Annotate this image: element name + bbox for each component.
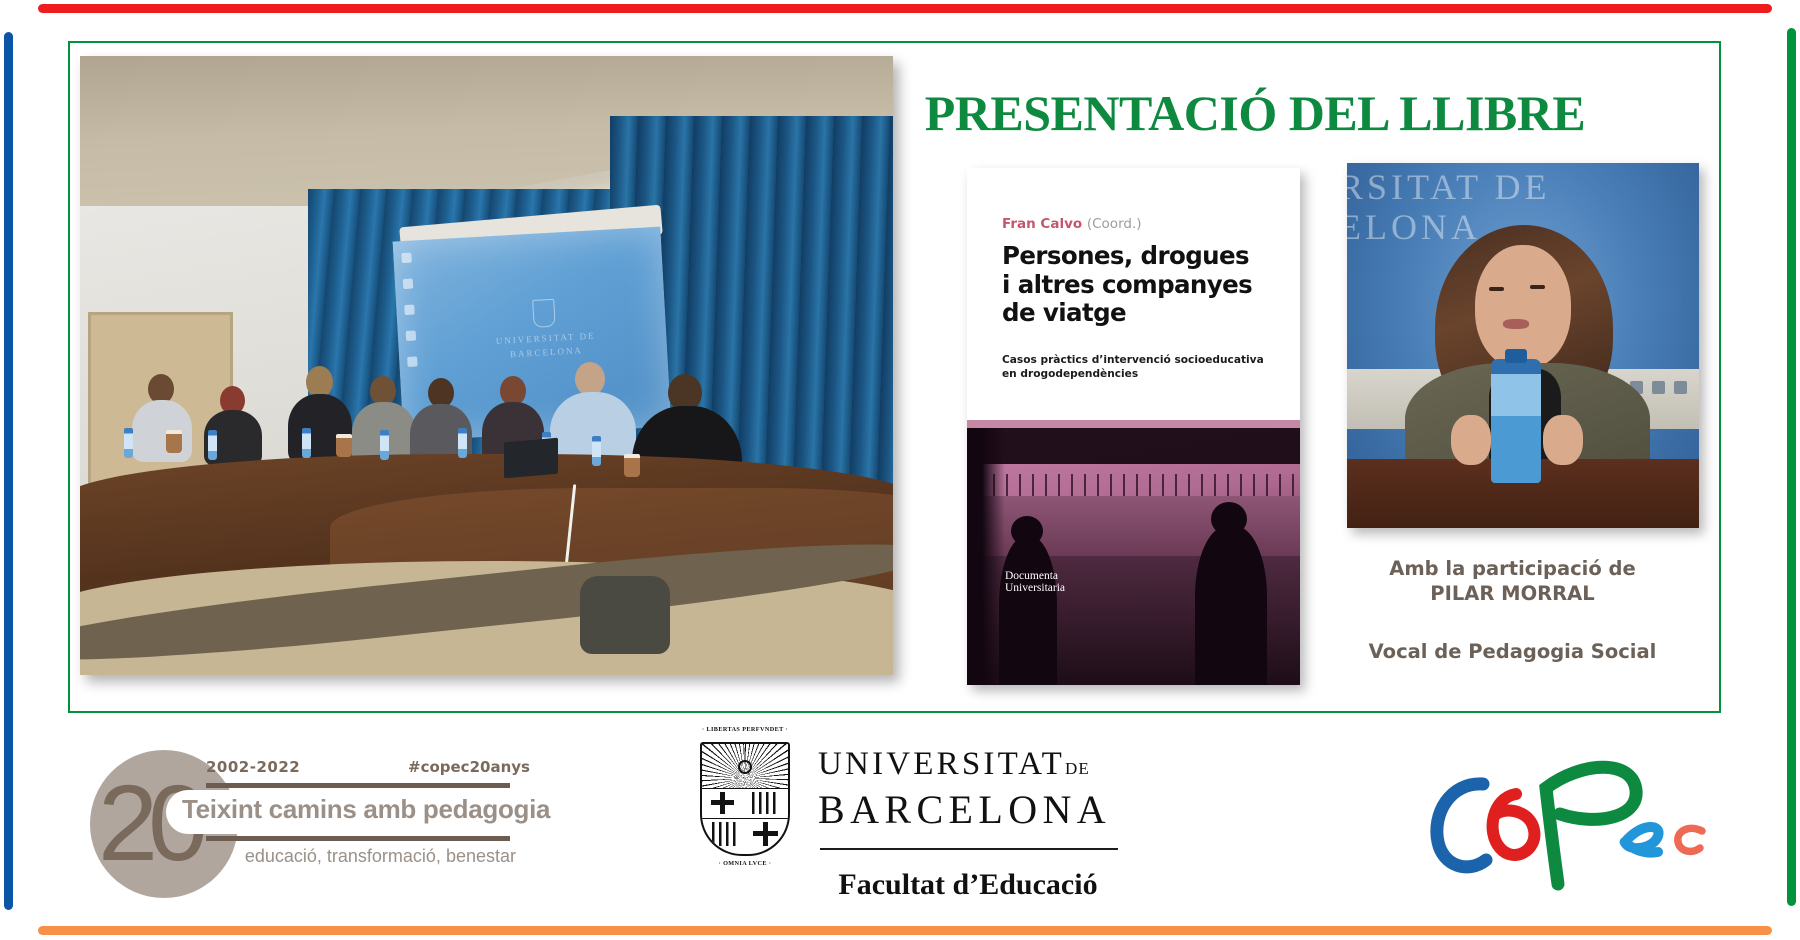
book-subtitle: Casos pràctics d’intervenció socioeducat… bbox=[1002, 353, 1277, 382]
water-bottle bbox=[208, 430, 217, 460]
copec-letter-e-blue bbox=[1625, 827, 1659, 853]
ub-divider bbox=[820, 848, 1118, 850]
copec-logo bbox=[1420, 744, 1720, 894]
pales-q3 bbox=[712, 822, 740, 846]
page-title: PRESENTACIÓ DEL LLIBRE bbox=[905, 84, 1605, 142]
ub-motto-bottom: · OMNIA LVCE · bbox=[700, 860, 790, 867]
universitat-de-barcelona-logo: · LIBERTAS PERFVNDET · · OMNIA LVCE · UN… bbox=[700, 722, 1120, 912]
coffee-cup bbox=[166, 430, 182, 453]
book-subtitle-line2: en drogodependències bbox=[1002, 367, 1277, 381]
panellist-head bbox=[575, 362, 605, 396]
water-bottle bbox=[380, 430, 389, 460]
logo-rule-top bbox=[206, 783, 510, 788]
copec-20-anniversary-logo: 20 2002-2022 #copec20anys Teixint camins… bbox=[90, 736, 510, 906]
laptop bbox=[504, 438, 558, 479]
copec-letter-o-red bbox=[1493, 794, 1535, 855]
water-bottle bbox=[458, 428, 467, 458]
ub-name-line2: BARCELONA bbox=[818, 786, 1111, 833]
logo-slogan: Teixint camins amb pedagogia bbox=[182, 794, 522, 825]
book-title-line2: i altres companyes bbox=[1002, 271, 1272, 300]
shield-icon bbox=[532, 299, 556, 328]
speaker-caption: Amb la participació de PILAR MORRAL Voca… bbox=[1315, 556, 1710, 664]
book-title: Persones, drogues i altres companyes de … bbox=[1002, 242, 1272, 328]
silhouette-figure bbox=[1195, 526, 1267, 685]
ub-motto-top: · LIBERTAS PERFVNDET · bbox=[700, 726, 790, 733]
book-author-name: Fran Calvo bbox=[1002, 216, 1082, 232]
water-bottle bbox=[302, 428, 311, 458]
copec-logo-svg bbox=[1420, 744, 1720, 894]
speaker-hand-right bbox=[1543, 415, 1583, 465]
ub-faculty: Facultat d’Educació bbox=[818, 868, 1118, 902]
book-author-role: (Coord.) bbox=[1087, 216, 1142, 232]
book-color-band bbox=[967, 420, 1300, 428]
speaker-eye-left bbox=[1489, 287, 1504, 291]
bottle-cap bbox=[1505, 349, 1527, 363]
logo-years: 2002-2022 bbox=[206, 758, 300, 776]
copec-letter-p-green bbox=[1546, 767, 1636, 884]
water-bottle bbox=[1491, 359, 1541, 483]
book-cover: Fran Calvo (Coord.) Persones, drogues i … bbox=[967, 168, 1300, 685]
book-title-line1: Persones, drogues bbox=[1002, 242, 1272, 271]
water-bottle bbox=[592, 436, 601, 466]
tree-line bbox=[967, 474, 1300, 498]
decorative-rule-top bbox=[38, 4, 1772, 13]
desktop-icons bbox=[401, 253, 418, 383]
caption-participation: Amb la participació de bbox=[1315, 556, 1710, 581]
panel-photo: UNIVERSITAT DE BARCELONA bbox=[80, 56, 893, 675]
water-bottle bbox=[124, 428, 133, 458]
footer-logos: 20 2002-2022 #copec20anys Teixint camins… bbox=[0, 716, 1800, 940]
screen-ub-logo: UNIVERSITAT DE BARCELONA bbox=[494, 297, 597, 362]
speaker-mouth bbox=[1503, 319, 1529, 329]
caption-name: PILAR MORRAL bbox=[1315, 581, 1710, 606]
publisher-line2: Universitaria bbox=[1005, 582, 1065, 594]
publisher-line1: Documenta bbox=[1005, 570, 1065, 582]
speaker-hand-left bbox=[1451, 415, 1491, 465]
logo-hashtag: #copec20anys bbox=[408, 758, 530, 776]
panellist-body bbox=[132, 400, 192, 462]
projected-text-line1: RSITAT DE bbox=[1347, 167, 1550, 207]
copec-letter-c-coral bbox=[1678, 828, 1702, 851]
coffee-cup bbox=[624, 454, 640, 477]
book-title-line3: de viatge bbox=[1002, 299, 1272, 328]
cross-q1 bbox=[711, 800, 734, 805]
ub-name-line1: UNIVERSITATDE bbox=[818, 746, 1090, 783]
ub-name-de: DE bbox=[1065, 759, 1090, 778]
caption-role: Vocal de Pedagogia Social bbox=[1315, 639, 1710, 664]
cross-q4 bbox=[753, 831, 778, 836]
book-publisher: Documenta Universitaria bbox=[1005, 570, 1065, 594]
ub-name-universitat: UNIVERSITAT bbox=[818, 746, 1065, 782]
backpack bbox=[580, 576, 670, 654]
speaker-eye-right bbox=[1530, 285, 1545, 289]
ub-shield-icon bbox=[700, 742, 790, 856]
book-author: Fran Calvo (Coord.) bbox=[1002, 216, 1142, 232]
silhouette-figure bbox=[999, 536, 1057, 685]
sun-icon bbox=[738, 760, 752, 774]
book-subtitle-line1: Casos pràctics d’intervenció socioeducat… bbox=[1002, 353, 1277, 367]
book-cover-photo bbox=[967, 428, 1300, 685]
speaker-photo: RSITAT DE ELONA bbox=[1347, 163, 1699, 528]
logo-tagline: educació, transformació, benestar bbox=[206, 846, 516, 867]
pales-q2 bbox=[752, 792, 780, 814]
copec-letter-c-blue bbox=[1437, 784, 1486, 867]
logo-rule-bottom bbox=[206, 836, 510, 841]
coffee-cup bbox=[336, 434, 352, 457]
